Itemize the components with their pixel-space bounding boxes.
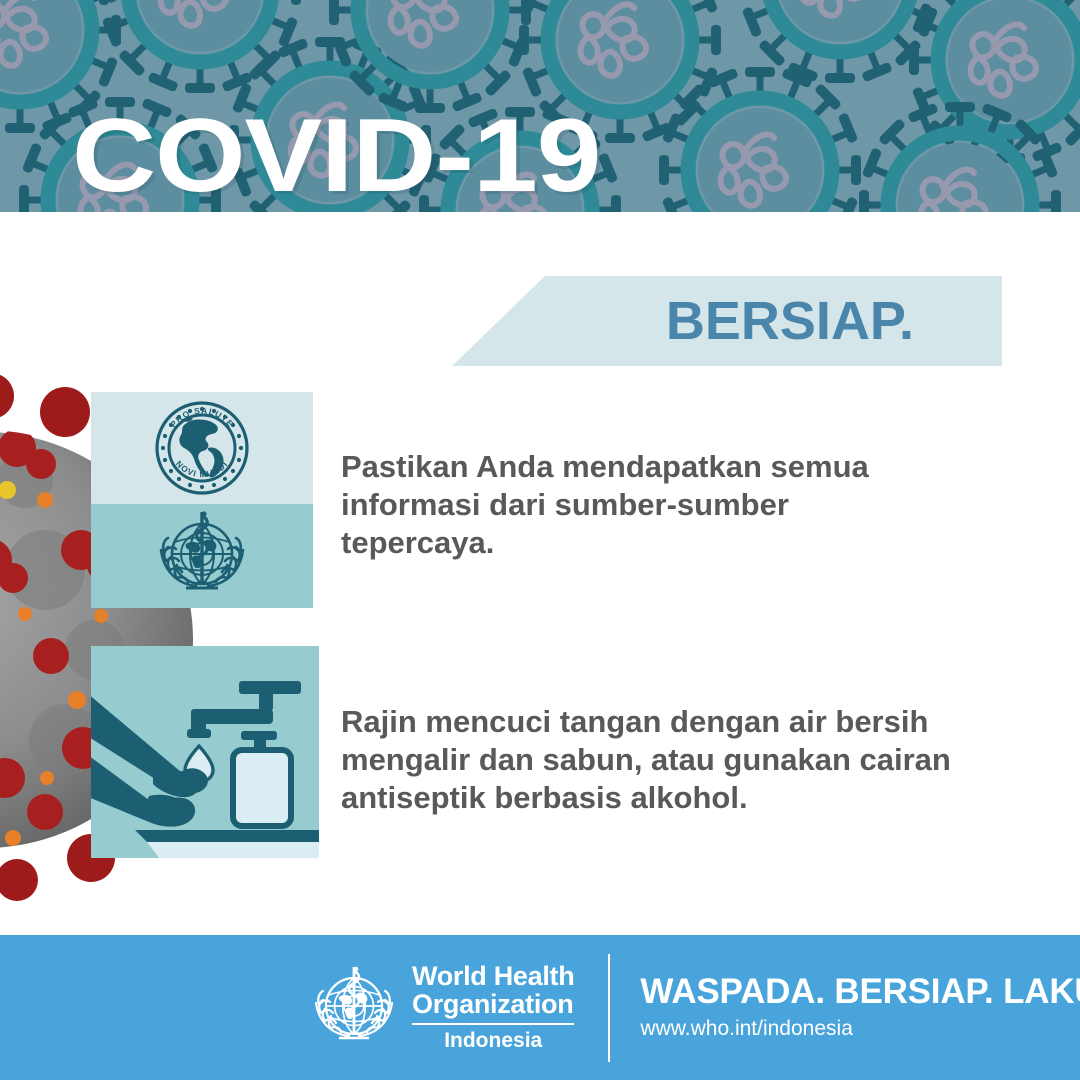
who-country-label: Indonesia bbox=[412, 1029, 574, 1053]
footer-bar: World Health Organization Indonesia WASP… bbox=[0, 935, 1080, 1080]
bersiap-banner: BERSIAP. bbox=[452, 276, 1002, 366]
soap-dispenser-icon bbox=[233, 731, 291, 826]
paho-emblem-icon: PRO SALUTE NOVI MUNDI bbox=[91, 392, 313, 504]
who-logo-footer: World Health Organization Indonesia bbox=[308, 960, 574, 1056]
page-title: COVID-19 bbox=[72, 104, 600, 208]
who-name-line2: Organization bbox=[412, 990, 574, 1018]
footer-tagline: WASPADA. BERSIAP. LAKUKAN. bbox=[640, 972, 1080, 1012]
who-emblem-icon bbox=[308, 960, 400, 1056]
tile-paho-logo: PRO SALUTE NOVI MUNDI bbox=[91, 392, 313, 504]
who-logo-divider bbox=[412, 1023, 574, 1025]
who-emblem-icon bbox=[91, 504, 313, 608]
who-name-line1: World Health bbox=[412, 962, 574, 990]
tile-handwashing bbox=[91, 646, 319, 858]
footer-vertical-divider bbox=[608, 954, 610, 1062]
handwashing-icon bbox=[91, 646, 319, 858]
header-band: COVID-19 bbox=[0, 0, 1080, 212]
covid19-poster: COVID-19 bbox=[0, 0, 1080, 1080]
tile-who-logo bbox=[91, 504, 313, 608]
footer-url[interactable]: www.who.int/indonesia bbox=[640, 1015, 1080, 1043]
message-text-1: Pastikan Anda mendapatkan semua informas… bbox=[341, 448, 921, 562]
message-text-2: Rajin mencuci tangan dengan air bersih m… bbox=[341, 703, 1001, 817]
bersiap-label: BERSIAP. bbox=[666, 290, 914, 352]
